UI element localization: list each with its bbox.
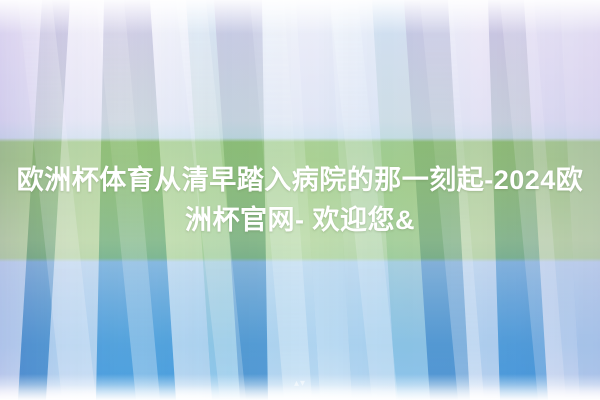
- bottom-watermark: ▴▾: [286, 378, 314, 390]
- top-haze: [0, 0, 600, 34]
- banner-image: ▴▾ 欧洲杯体育从清早踏入病院的那一刻起-2024欧洲杯官网- 欢迎您&: [0, 0, 600, 400]
- banner-headline: 欧洲杯体育从清早踏入病院的那一刻起-2024欧洲杯官网- 欢迎您&: [0, 160, 600, 240]
